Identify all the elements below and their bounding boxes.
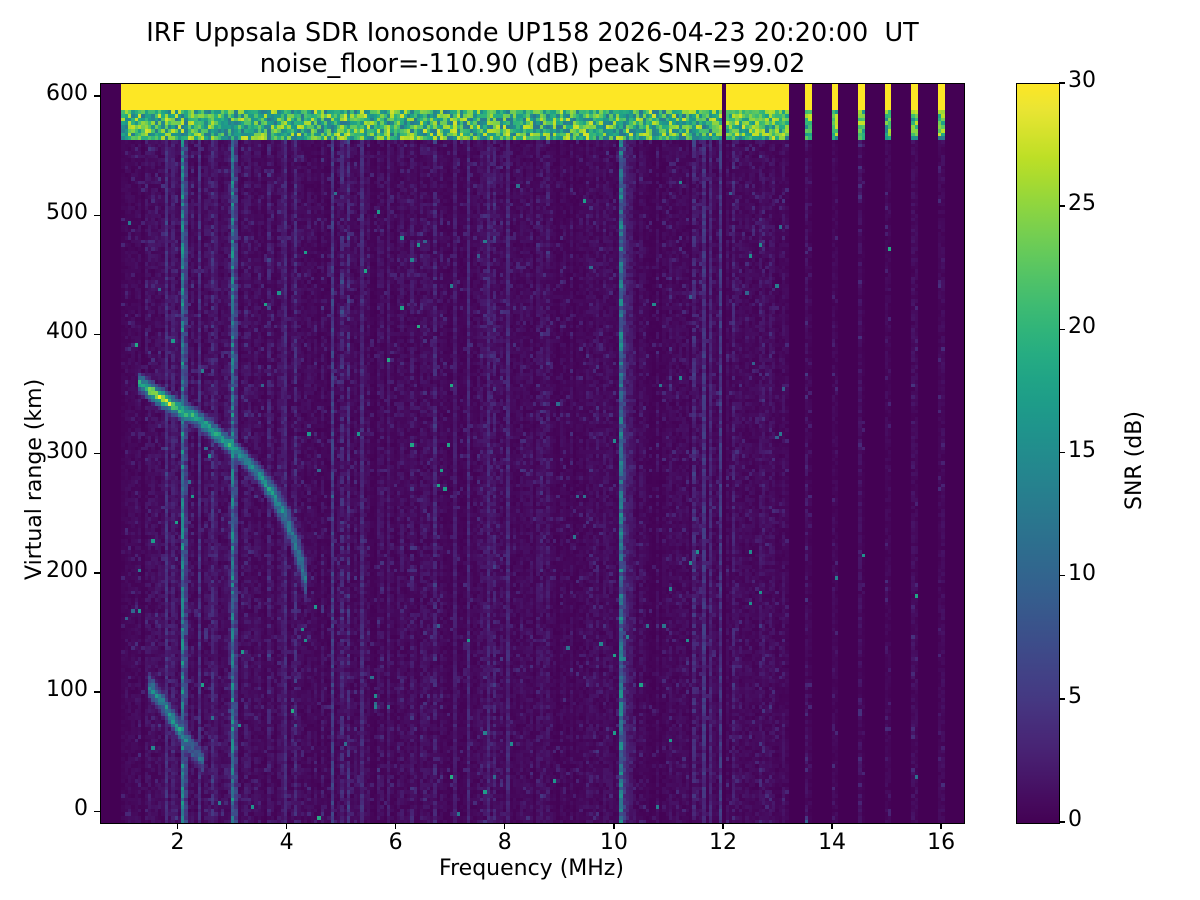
x-tick-label: 10 xyxy=(584,830,644,855)
colorbar-tick-label: 15 xyxy=(1068,438,1096,463)
colorbar-tick-mark xyxy=(1059,821,1065,822)
ionogram-figure: IRF Uppsala SDR Ionosonde UP158 2026-04-… xyxy=(0,0,1200,900)
x-tick-label: 14 xyxy=(802,830,862,855)
colorbar-tick-label: 20 xyxy=(1068,314,1096,339)
y-tick-label: 600 xyxy=(46,81,88,106)
colorbar-tick-mark xyxy=(1059,329,1065,330)
colorbar-gradient xyxy=(1017,84,1059,823)
x-tick-label: 16 xyxy=(911,830,971,855)
y-tick-label: 0 xyxy=(74,796,88,821)
y-tick-mark xyxy=(94,811,100,812)
colorbar-tick-label: 0 xyxy=(1068,807,1082,832)
ionogram-heatmap xyxy=(101,84,964,823)
x-tick-mark xyxy=(286,823,287,829)
colorbar-tick-label: 10 xyxy=(1068,561,1096,586)
y-tick-label: 300 xyxy=(46,439,88,464)
y-tick-mark xyxy=(94,691,100,692)
y-tick-label: 200 xyxy=(46,558,88,583)
colorbar-tick-label: 5 xyxy=(1068,684,1082,709)
x-tick-label: 12 xyxy=(693,830,753,855)
colorbar-tick-mark xyxy=(1059,82,1065,83)
y-tick-mark xyxy=(94,572,100,573)
colorbar-tick-mark xyxy=(1059,205,1065,206)
colorbar-tick-label: 30 xyxy=(1068,68,1096,93)
x-tick-mark xyxy=(613,823,614,829)
x-tick-mark xyxy=(177,823,178,829)
x-tick-mark xyxy=(504,823,505,829)
y-tick-mark xyxy=(94,334,100,335)
title-line-2: noise_floor=-110.90 (dB) peak SNR=99.02 xyxy=(0,49,1065,80)
colorbar-tick-mark xyxy=(1059,452,1065,453)
x-axis-label: Frequency (MHz) xyxy=(100,856,963,881)
colorbar-tick-mark xyxy=(1059,698,1065,699)
x-tick-mark xyxy=(395,823,396,829)
y-axis-label: Virtual range (km) xyxy=(22,379,47,580)
y-tick-mark xyxy=(94,215,100,216)
colorbar-tick-mark xyxy=(1059,575,1065,576)
x-tick-mark xyxy=(831,823,832,829)
x-tick-label: 6 xyxy=(366,830,426,855)
title-line-1: IRF Uppsala SDR Ionosonde UP158 2026-04-… xyxy=(0,18,1065,49)
figure-title: IRF Uppsala SDR Ionosonde UP158 2026-04-… xyxy=(0,18,1065,80)
x-tick-label: 8 xyxy=(475,830,535,855)
y-tick-mark xyxy=(94,95,100,96)
ionogram-plot-area xyxy=(100,83,965,824)
x-tick-label: 4 xyxy=(257,830,317,855)
colorbar-label: SNR (dB) xyxy=(1122,411,1147,510)
x-tick-mark xyxy=(940,823,941,829)
y-tick-label: 500 xyxy=(46,200,88,225)
x-tick-label: 2 xyxy=(147,830,207,855)
y-tick-label: 400 xyxy=(46,319,88,344)
colorbar xyxy=(1016,83,1060,824)
colorbar-tick-label: 25 xyxy=(1068,191,1096,216)
x-tick-mark xyxy=(722,823,723,829)
y-tick-label: 100 xyxy=(46,677,88,702)
y-tick-mark xyxy=(94,453,100,454)
